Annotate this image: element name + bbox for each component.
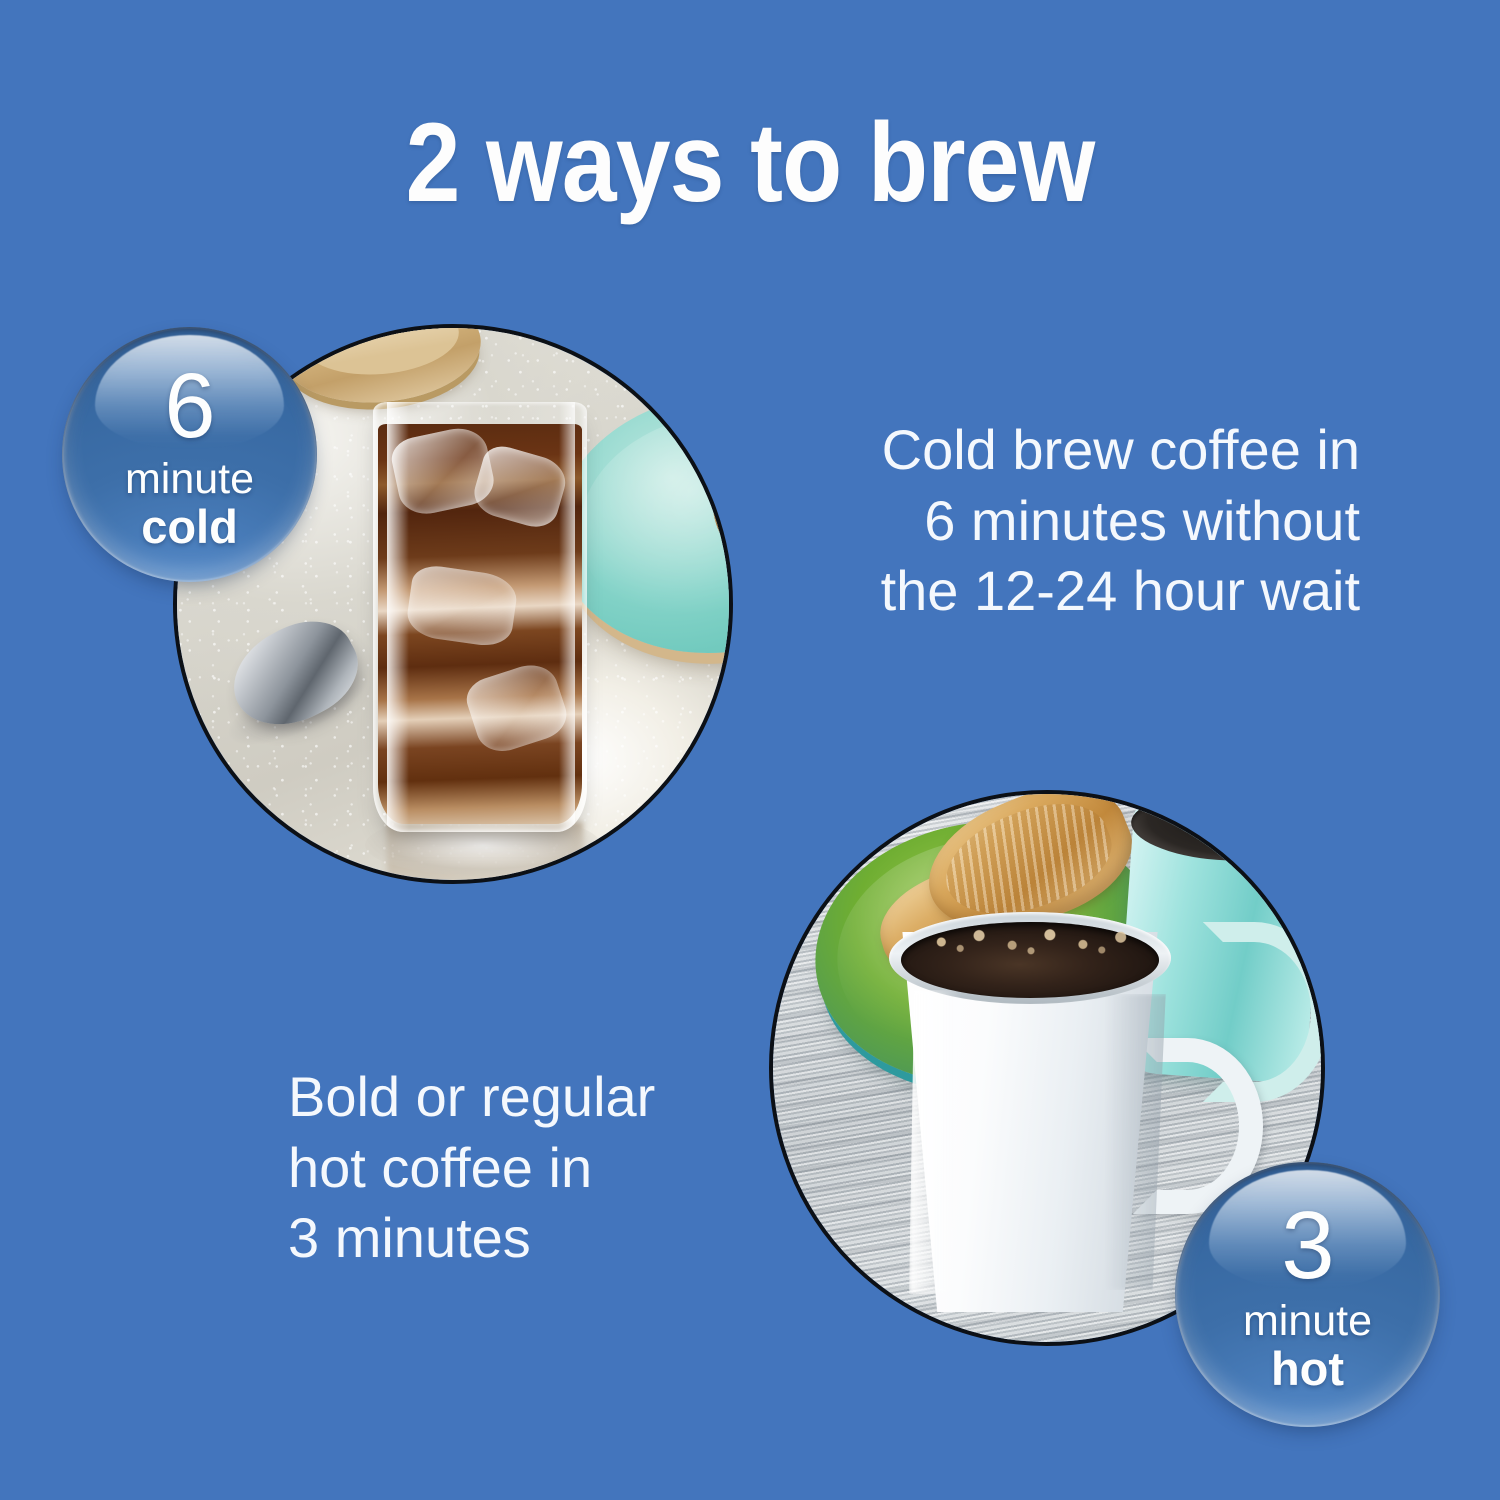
badge-text-group: 3 minute hot — [1175, 1162, 1440, 1427]
promo-graphic: 2 ways to brew 6 minute cold — [0, 0, 1500, 1500]
badge-3-minute-hot: 3 minute hot — [1175, 1162, 1440, 1427]
badge-number: 6 — [164, 360, 214, 452]
glass-highlight-right — [559, 402, 575, 832]
hot-coffee-description: Bold or regular hot coffee in 3 minutes — [288, 1062, 655, 1274]
badge-unit: minute — [1243, 1300, 1372, 1343]
badge-number: 3 — [1281, 1198, 1333, 1294]
coffee-foam-bubbles — [913, 922, 1149, 962]
iced-coffee-glass — [373, 402, 587, 832]
badge-mode: hot — [1271, 1345, 1344, 1392]
glass-highlight-left — [387, 402, 409, 832]
page-title: 2 ways to brew — [90, 98, 1410, 227]
badge-6-minute-cold: 6 minute cold — [62, 327, 317, 582]
badge-text-group: 6 minute cold — [62, 327, 317, 582]
badge-mode: cold — [141, 503, 238, 550]
badge-unit: minute — [125, 458, 254, 501]
cold-brew-description: Cold brew coffee in 6 minutes without th… — [881, 415, 1360, 627]
